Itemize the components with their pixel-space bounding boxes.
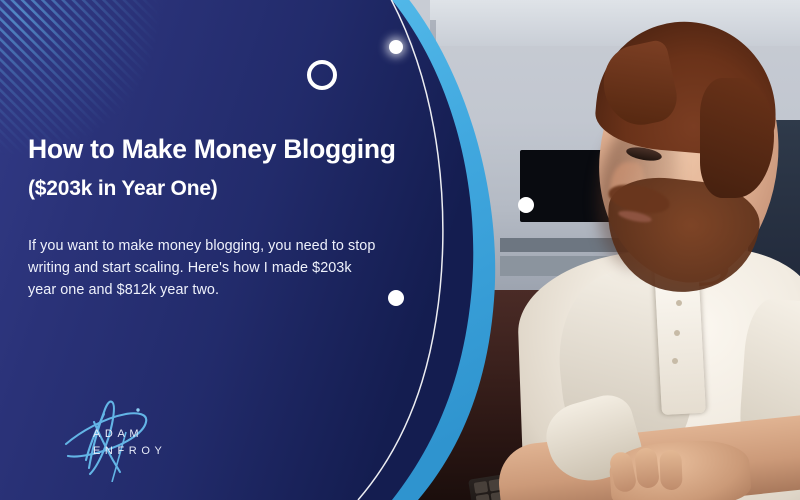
brand-line-1: ADAM <box>93 426 166 443</box>
dot-icon <box>388 290 404 306</box>
page-subtitle: ($203k in Year One) <box>28 178 428 199</box>
blog-header-banner: How to Make Money Blogging ($203k in Yea… <box>0 0 800 500</box>
circle-outline-icon <box>307 60 337 90</box>
page-title: How to Make Money Blogging <box>28 136 428 163</box>
glow-dot-icon <box>389 40 403 54</box>
page-description: If you want to make money blogging, you … <box>28 236 378 302</box>
banner-content: How to Make Money Blogging ($203k in Yea… <box>0 0 440 500</box>
brand-line-2: ENFROY <box>93 443 166 460</box>
brand-name: ADAM ENFROY <box>93 426 166 460</box>
dot-icon <box>518 197 534 213</box>
